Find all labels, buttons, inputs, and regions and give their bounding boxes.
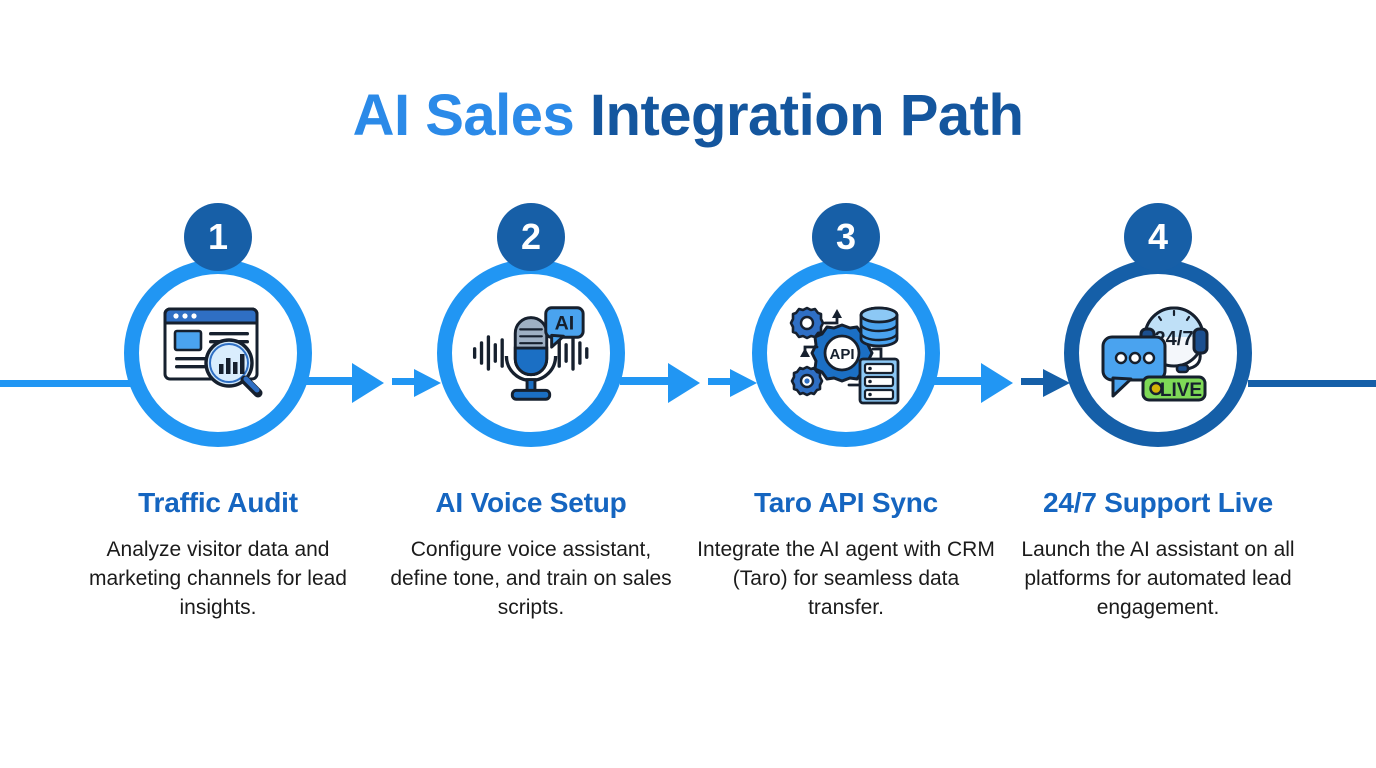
step-3[interactable]: 3 <box>690 225 1002 622</box>
step-1-number-badge: 1 <box>184 203 252 271</box>
live-status-label: LIVE <box>1160 380 1202 401</box>
step-4-description: Launch the AI assistant on all platforms… <box>1002 535 1314 622</box>
step-2-circle: 2 <box>437 259 625 447</box>
ai-bubble-label: AI <box>555 312 575 334</box>
step-2[interactable]: 2 <box>375 225 687 622</box>
step-3-title: Taro API Sync <box>690 487 1002 519</box>
step-2-number-badge: 2 <box>497 203 565 271</box>
step-1-description: Analyze visitor data and marketing chann… <box>62 535 374 622</box>
microphone-ai-voice-icon: AI <box>471 297 591 409</box>
step-4-circle: 4 <box>1064 259 1252 447</box>
step-3-circle: 3 <box>752 259 940 447</box>
step-4-number-badge: 4 <box>1124 203 1192 271</box>
api-gear-label: API <box>829 346 854 363</box>
infographic-canvas: AI Sales Integration Path <box>0 0 1376 768</box>
step-4[interactable]: 4 <box>1002 225 1314 622</box>
website-analytics-magnifier-icon <box>158 297 278 409</box>
step-3-number-badge: 3 <box>812 203 880 271</box>
step-1-circle: 1 <box>124 259 312 447</box>
step-2-description: Configure voice assistant, define tone, … <box>375 535 687 622</box>
chat-headset-live-support-icon: 24/7 LIVE <box>1098 297 1218 409</box>
step-2-title: AI Voice Setup <box>375 487 687 519</box>
step-4-title: 24/7 Support Live <box>1002 487 1314 519</box>
step-1[interactable]: 1 <box>62 225 374 622</box>
step-3-description: Integrate the AI agent with CRM (Taro) f… <box>690 535 1002 622</box>
api-gears-database-server-icon: API <box>786 297 906 409</box>
step-1-title: Traffic Audit <box>62 487 374 519</box>
